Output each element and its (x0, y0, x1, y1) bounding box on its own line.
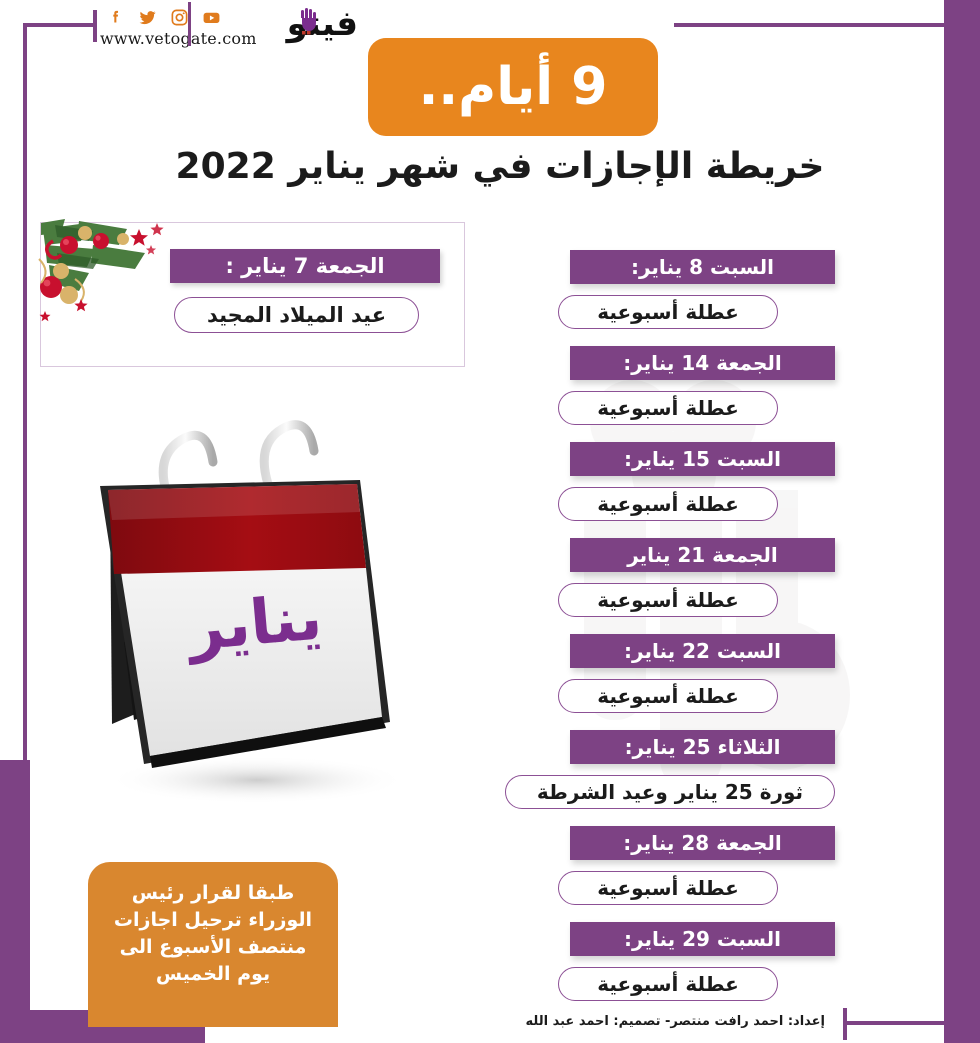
featured-holiday-card: الجمعة 7 يناير : عيد الميلاد المجيد (40, 222, 465, 367)
holiday-date-header: الثلاثاء 25 يناير: (570, 730, 835, 764)
page-title: خريطة الإجازات في شهر يناير 2022 (150, 146, 850, 187)
frame-right-bar (944, 0, 980, 1043)
youtube-icon[interactable] (202, 8, 221, 27)
frame-bottom-right-tick (843, 1008, 847, 1040)
holiday-date-header: السبت 8 يناير: (570, 250, 835, 284)
holiday-occasion-pill: عطلة أسبوعية (558, 871, 778, 905)
brand-separator (188, 2, 191, 46)
holiday-list: السبت 8 يناير:عطلة أسبوعيةالجمعة 14 يناي… (420, 250, 920, 1010)
holiday-occasion-pill: عطلة أسبوعية (558, 679, 778, 713)
holiday-occasion-pill: عطلة أسبوعية (558, 391, 778, 425)
days-count-badge: 9 أيام.. (368, 38, 658, 136)
holiday-occasion-pill: عطلة أسبوعية (558, 967, 778, 1001)
frame-top-tick (93, 10, 97, 42)
frame-top-line (23, 23, 93, 27)
holiday-occasion-pill: عطلة أسبوعية (558, 295, 778, 329)
holiday-date-header: الجمعة 28 يناير: (570, 826, 835, 860)
instagram-icon[interactable] (170, 8, 189, 27)
twitter-icon[interactable] (138, 8, 157, 27)
holiday-occasion-pill: ثورة 25 يناير وعيد الشرطة (505, 775, 835, 809)
holiday-date-header: السبت 22 يناير: (570, 634, 835, 668)
vetogate-logo: فيتو (262, 2, 358, 46)
footer-credit: إعداد: احمد رافت منتصر- تصميم: احمد عبد … (526, 1008, 825, 1034)
frame-left-block (0, 760, 30, 1043)
desk-calendar-illustration: يناير (72, 412, 442, 812)
christmas-decoration-icon (35, 215, 185, 350)
holiday-date-header: الجمعة 14 يناير: (570, 346, 835, 380)
featured-occasion-pill: عيد الميلاد المجيد (174, 297, 419, 333)
frame-top-right-line (674, 23, 944, 27)
frame-bottom-right-line (844, 1021, 944, 1025)
holiday-occasion-pill: عطلة أسبوعية (558, 487, 778, 521)
svg-text:يناير: يناير (182, 580, 325, 665)
facebook-icon[interactable] (106, 8, 125, 27)
holiday-occasion-pill: عطلة أسبوعية (558, 583, 778, 617)
featured-date-header: الجمعة 7 يناير : (170, 249, 440, 283)
frame-left-line (23, 23, 27, 783)
holiday-date-header: الجمعة 21 يناير (570, 538, 835, 572)
holiday-date-header: السبت 29 يناير: (570, 922, 835, 956)
prime-minister-note: طبقا لقرار رئيس الوزراء ترحيل اجازات منت… (88, 862, 338, 1027)
holiday-date-header: السبت 15 يناير: (570, 442, 835, 476)
hand-icon (298, 6, 318, 36)
infographic-page: www.vetogate.com فيتو 9 أيام.. خريطة الإ… (0, 0, 980, 1043)
